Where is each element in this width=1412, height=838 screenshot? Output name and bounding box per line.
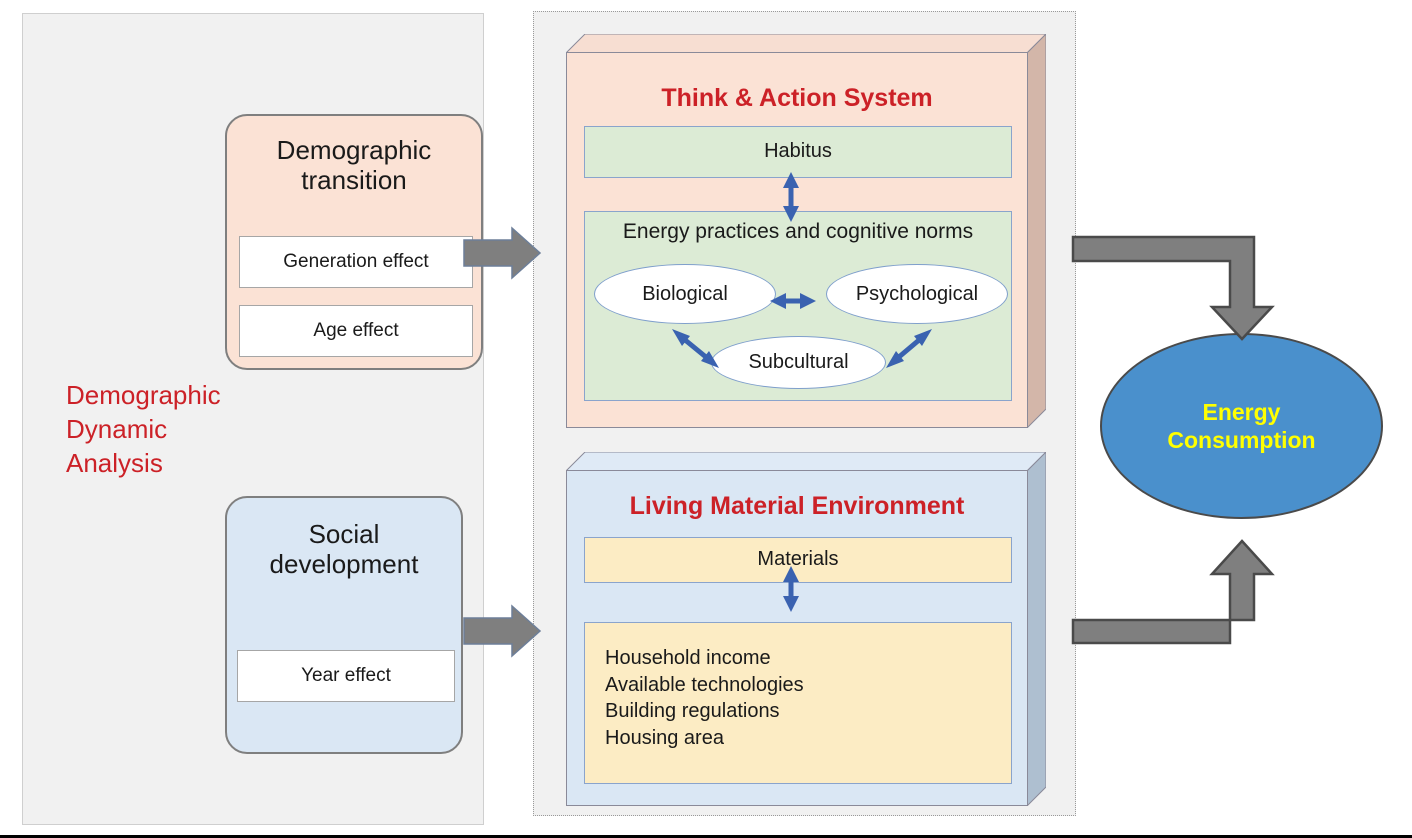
living-box-right-bevel xyxy=(1027,452,1046,806)
living-box-top-bevel xyxy=(566,452,1046,471)
biological-node[interactable]: Biological xyxy=(594,264,776,324)
social-development-card[interactable]: Social development Year effect xyxy=(225,496,463,754)
demographic-transition-title: Demographic transition xyxy=(227,136,481,196)
living-material-environment-box[interactable]: Living Material Environment Materials Ho… xyxy=(566,452,1046,806)
year-effect-item[interactable]: Year effect xyxy=(237,650,455,702)
psychological-node[interactable]: Psychological xyxy=(826,264,1008,324)
living-factors-list: Household income Available technologies … xyxy=(605,645,804,751)
generation-effect-item[interactable]: Generation effect xyxy=(239,236,473,288)
habitus-box[interactable]: Habitus xyxy=(584,126,1012,178)
social-development-title: Social development xyxy=(227,520,461,580)
arrow-living-to-energy-consumption xyxy=(1073,541,1272,643)
energy-practices-label: Energy practices and cognitive norms xyxy=(585,220,1011,244)
panel-label-demographic-dynamic-analysis: Demographic Dynamic Analysis xyxy=(66,379,221,480)
energy-practices-box[interactable]: Energy practices and cognitive norms Bio… xyxy=(584,211,1012,401)
energy-consumption-node[interactable]: Energy Consumption xyxy=(1100,333,1383,519)
mechanism-panel: Think & Action System Habitus Energy pra… xyxy=(533,11,1076,816)
habitus-label: Habitus xyxy=(585,140,1011,163)
think-action-system-title: Think & Action System xyxy=(566,84,1028,113)
materials-label: Materials xyxy=(585,548,1011,571)
subcultural-node[interactable]: Subcultural xyxy=(711,336,886,389)
demographic-transition-card[interactable]: Demographic transition Generation effect… xyxy=(225,114,483,370)
age-effect-item[interactable]: Age effect xyxy=(239,305,473,357)
living-material-environment-title: Living Material Environment xyxy=(566,492,1028,521)
think-action-system-box[interactable]: Think & Action System Habitus Energy pra… xyxy=(566,34,1046,428)
think-box-top-bevel xyxy=(566,34,1046,53)
materials-box[interactable]: Materials xyxy=(584,537,1012,583)
think-box-right-bevel xyxy=(1027,34,1046,428)
diagram-root: Demographic transition Generation effect… xyxy=(0,0,1412,838)
demographic-dynamic-analysis-panel: Demographic transition Generation effect… xyxy=(22,13,484,825)
living-factors-box[interactable]: Household income Available technologies … xyxy=(584,622,1012,784)
arrow-think-to-energy-consumption xyxy=(1073,237,1272,339)
